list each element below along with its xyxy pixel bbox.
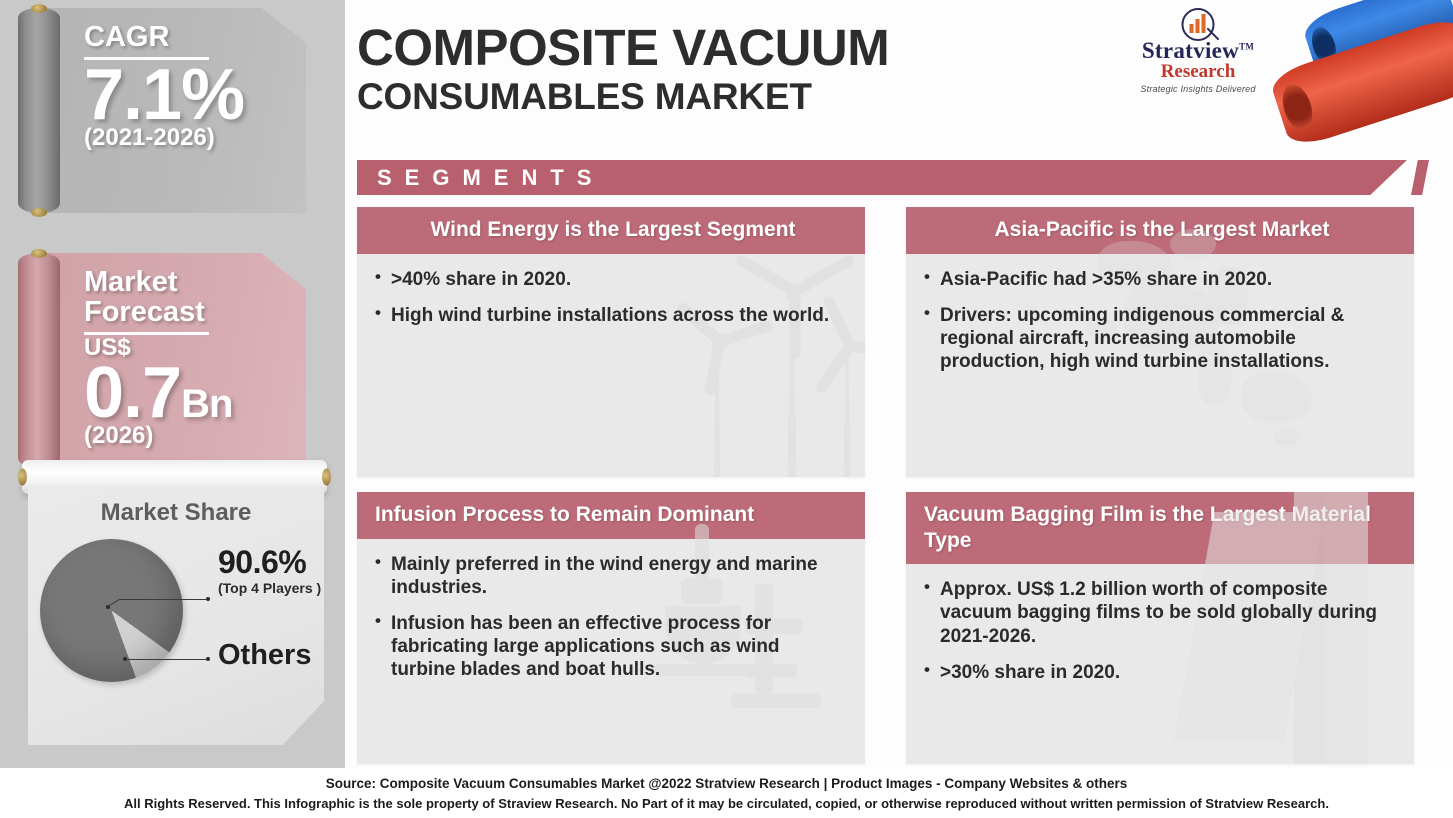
title-line-1: COMPOSITE VACUUM — [357, 22, 1077, 73]
roll-cap-icon — [18, 469, 27, 486]
footer-rights-line: All Rights Reserved. This Infographic is… — [0, 794, 1453, 814]
forecast-divider — [84, 332, 209, 335]
forecast-value-group: 0.7Bn — [84, 360, 292, 426]
left-stats-panel: CAGR 7.1% (2021-2026) Market Forecast US… — [0, 0, 345, 768]
footer-source-line: Source: Composite Vacuum Consumables Mar… — [0, 774, 1453, 794]
cagr-text-group: CAGR 7.1% (2021-2026) — [84, 22, 292, 152]
leader-line-top — [120, 599, 208, 600]
list-item: Approx. US$ 1.2 billion worth of composi… — [922, 578, 1398, 648]
cagr-divider — [84, 57, 209, 60]
forecast-value: 0.7 — [84, 353, 181, 433]
stratview-research-logo[interactable]: StratviewTM Research Strategic Insights … — [1118, 8, 1278, 94]
bullet-list: Asia-Pacific had >35% share in 2020. Dri… — [922, 268, 1398, 374]
logo-name: StratviewTM — [1118, 38, 1278, 64]
page-title: COMPOSITE VACUUM CONSUMABLES MARKET — [357, 22, 1077, 117]
bullet-list: >40% share in 2020. High wind turbine in… — [373, 268, 849, 327]
leader-endpoint-top — [206, 597, 210, 601]
leader-line-bottom — [126, 659, 208, 660]
market-share-card: Market Share 90.6% (Top 4 Players ) Othe… — [28, 487, 324, 745]
market-forecast-stat-card: Market Forecast US$ 0.7Bn (2026) — [6, 253, 306, 468]
logo-mark — [1118, 8, 1278, 42]
cagr-stat-card: CAGR 7.1% (2021-2026) — [6, 8, 306, 213]
card-body: Mainly preferred in the wind energy and … — [357, 539, 865, 701]
market-share-top-value: 90.6% — [218, 544, 306, 581]
footer: Source: Composite Vacuum Consumables Mar… — [0, 768, 1453, 818]
cagr-label: CAGR — [84, 22, 292, 52]
main-content: COMPOSITE VACUUM CONSUMABLES MARKET Stra… — [345, 0, 1453, 768]
card-title: Asia-Pacific is the Largest Market — [906, 207, 1414, 254]
product-rolls-image — [1270, 0, 1453, 150]
card-infusion-process: Infusion Process to Remain Dominant Main… — [357, 492, 865, 764]
card-title: Infusion Process to Remain Dominant — [357, 492, 865, 539]
card-vacuum-bagging-film: Vacuum Bagging Film is the Largest Mater… — [906, 492, 1414, 764]
leader-endpoint-bottom — [206, 657, 210, 661]
roll-cap-icon — [31, 208, 47, 217]
logo-subname: Research — [1118, 61, 1278, 83]
segments-banner-label: SEGMENTS — [357, 160, 1407, 195]
list-item: >30% share in 2020. — [922, 661, 1398, 684]
forecast-label-line2: Forecast — [84, 297, 292, 327]
logo-tagline: Strategic Insights Delivered — [1118, 84, 1278, 94]
forecast-unit: Bn — [181, 382, 232, 426]
market-share-pie-chart — [40, 539, 190, 689]
cagr-value: 7.1% — [84, 62, 292, 128]
trademark-icon: TM — [1239, 41, 1254, 51]
forecast-period: (2026) — [84, 422, 292, 450]
list-item: Asia-Pacific had >35% share in 2020. — [922, 268, 1398, 291]
bullet-list: Mainly preferred in the wind energy and … — [373, 553, 849, 682]
card-wind-energy: Wind Energy is the Largest Segment >40% … — [357, 207, 865, 477]
list-item: Infusion has been an effective process f… — [373, 612, 849, 682]
card-body: >40% share in 2020. High wind turbine in… — [357, 254, 865, 346]
bullet-list: Approx. US$ 1.2 billion worth of composi… — [922, 578, 1398, 684]
segments-banner-accent — [1411, 160, 1429, 195]
cagr-period: (2021-2026) — [84, 124, 292, 152]
list-item: >40% share in 2020. — [373, 268, 849, 291]
list-item: Drivers: upcoming indigenous commercial … — [922, 304, 1398, 374]
card-asia-pacific: Asia-Pacific is the Largest Market Asia-… — [906, 207, 1414, 477]
title-line-2: CONSUMABLES MARKET — [357, 76, 1077, 117]
card-title: Vacuum Bagging Film is the Largest Mater… — [906, 492, 1414, 564]
pie-graphic — [40, 539, 183, 682]
roll-cap-icon — [31, 4, 47, 13]
roll-cap-icon — [322, 469, 331, 486]
market-share-others-label: Others — [218, 639, 311, 672]
list-item: Mainly preferred in the wind energy and … — [373, 553, 849, 599]
forecast-roll-cylinder — [18, 253, 60, 468]
card-body: Approx. US$ 1.2 billion worth of composi… — [906, 564, 1414, 703]
cagr-roll-cylinder — [18, 8, 60, 213]
segments-banner: SEGMENTS — [357, 160, 1407, 195]
list-item: High wind turbine installations across t… — [373, 304, 849, 327]
market-share-top-caption: (Top 4 Players ) — [218, 580, 321, 596]
market-share-title: Market Share — [28, 499, 324, 527]
logo-name-text: Stratview — [1142, 38, 1239, 63]
magnifier-chart-icon — [1182, 8, 1215, 41]
card-title: Wind Energy is the Largest Segment — [357, 207, 865, 254]
forecast-text-group: Market Forecast US$ 0.7Bn (2026) — [84, 267, 292, 450]
card-body: Asia-Pacific had >35% share in 2020. Dri… — [906, 254, 1414, 393]
forecast-label-line1: Market — [84, 267, 292, 297]
roll-cap-icon — [31, 249, 47, 258]
